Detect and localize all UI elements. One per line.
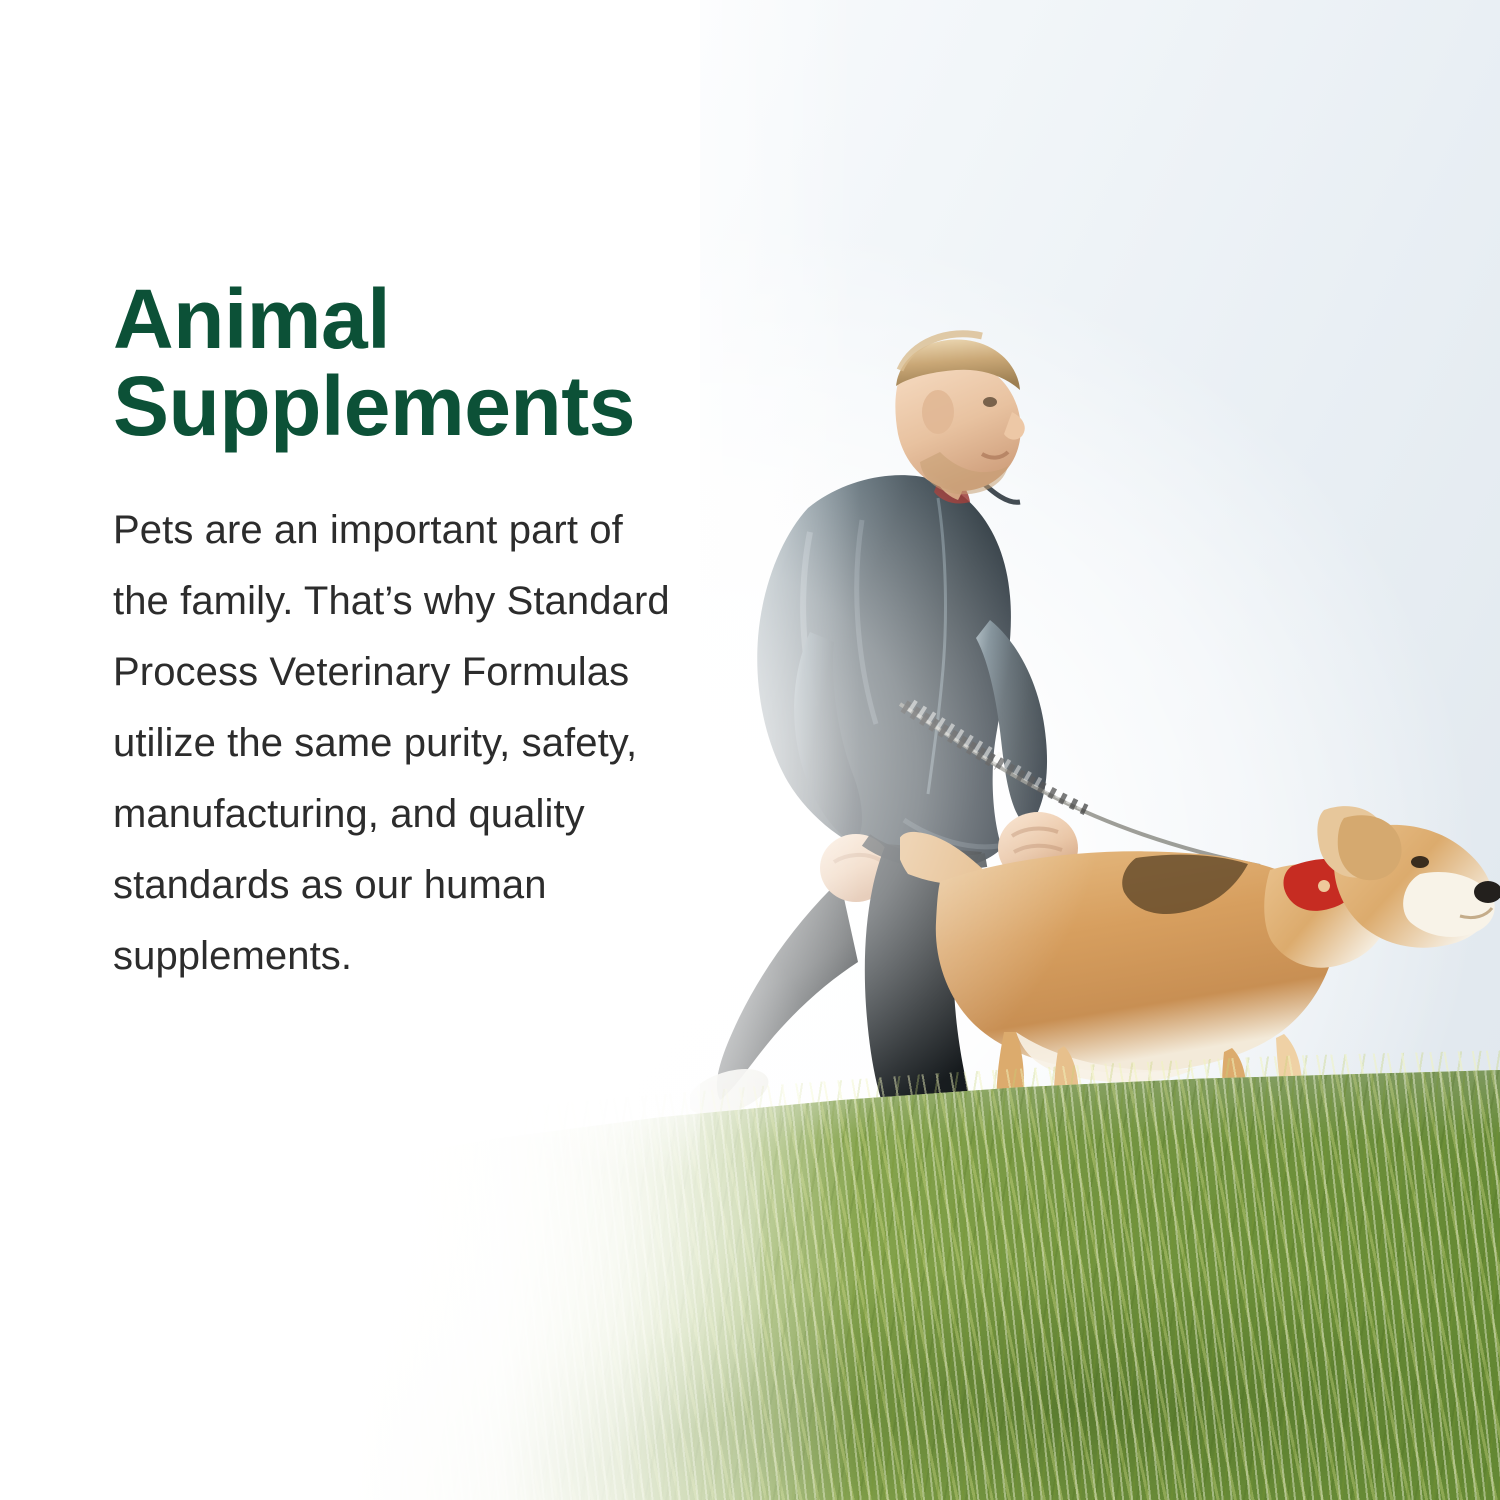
dog-eye [1411, 856, 1429, 868]
runner-eye [983, 397, 997, 407]
dog-collar-ring [1318, 880, 1330, 892]
copy-block: Animal Supplements Pets are an important… [113, 276, 713, 992]
runner-far-leg [717, 880, 858, 1100]
page-title: Animal Supplements [113, 276, 713, 449]
body-paragraph: Pets are an important part of the family… [113, 495, 673, 992]
animal-supplements-hero-banner: Animal Supplements Pets are an important… [0, 0, 1500, 1500]
runner-ear [922, 390, 954, 434]
